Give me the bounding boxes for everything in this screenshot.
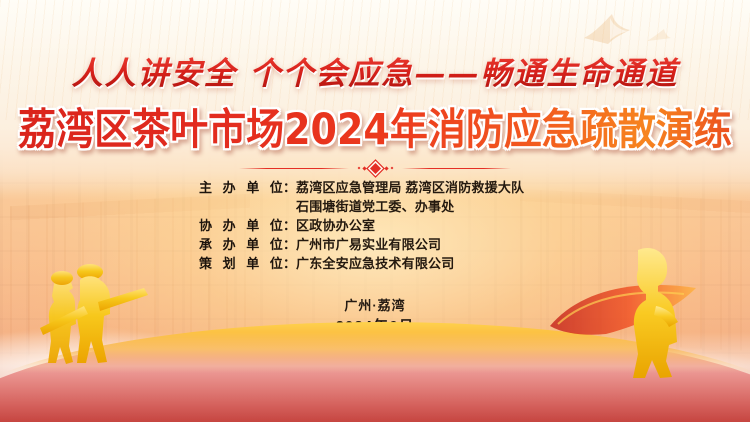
organizer-colon: ： <box>283 216 296 235</box>
organizer-row: 主办单位：荔湾区应急管理局 荔湾区消防救援大队 <box>199 178 551 197</box>
bird-small-icon <box>646 28 672 44</box>
organizer-row: 协办单位：区政协办公室 <box>199 216 551 235</box>
diamond-ornament-icon <box>366 159 384 177</box>
organizer-value: 石围塘街道党工委、办事处 <box>296 197 551 216</box>
divider <box>239 160 511 176</box>
firefighter-silhouette-right <box>598 242 702 378</box>
organizer-value: 广州市广易实业有限公司 <box>296 235 551 254</box>
organizer-value: 荔湾区应急管理局 荔湾区消防救援大队 <box>296 178 551 197</box>
poster-main-title: 荔湾区茶叶市场2024年消防应急疏散演练 <box>0 95 750 157</box>
organizer-row: 主办单位：石围塘街道党工委、办事处 <box>199 197 551 216</box>
organizer-label: 协办单位 <box>199 216 283 235</box>
diamond-dot-icon <box>357 167 360 170</box>
organizer-colon: ： <box>283 178 296 197</box>
organizer-label: 主办单位 <box>199 178 283 197</box>
poster-canvas: 人人讲安全 个个会应急——畅通生命通道 荔湾区茶叶市场2024年消防应急疏散演练… <box>0 0 750 422</box>
organizer-colon: ： <box>283 235 296 254</box>
bird-icon <box>580 12 640 46</box>
divider-rule-right <box>402 168 512 169</box>
organizer-value: 区政协办公室 <box>296 216 551 235</box>
firefighter-silhouette-left <box>28 250 156 378</box>
organizer-label: 承办单位 <box>199 235 283 254</box>
diamond-dot-icon <box>384 166 388 170</box>
divider-rule-left <box>239 168 349 169</box>
poster-subtitle: 人人讲安全 个个会应急——畅通生命通道 <box>0 48 750 93</box>
organizer-row: 承办单位：广州市广易实业有限公司 <box>199 235 551 254</box>
divider-ornament <box>358 162 393 175</box>
diamond-dot-icon <box>390 167 393 170</box>
